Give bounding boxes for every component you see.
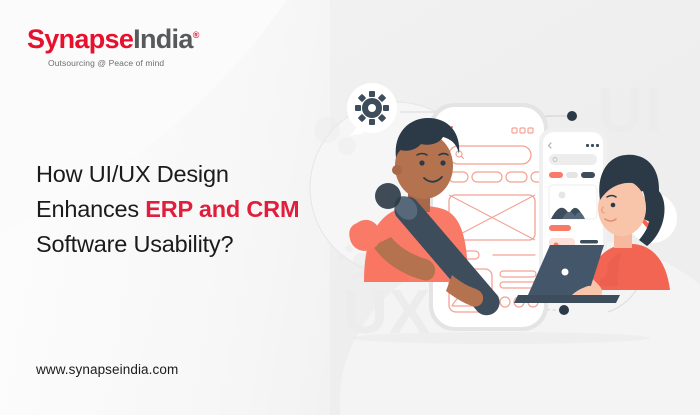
headline-line-1: How UI/UX Design (36, 157, 299, 192)
page-title: How UI/UX Design Enhances ERP and CRM So… (36, 157, 299, 262)
small-phone-menu-icon (586, 144, 599, 147)
designer-eye-left (419, 160, 424, 165)
small-phone-hero-image (549, 185, 597, 219)
hero-illustration (300, 50, 700, 350)
logo-tagline: Outsourcing @ Peace of mind (48, 58, 199, 68)
logo-text-synapse: Synapse (27, 24, 133, 54)
headline-line-2: Enhances ERP and CRM (36, 192, 299, 227)
connector-node-top (567, 111, 577, 121)
ground-shadow (350, 332, 650, 344)
laptop-base (514, 295, 620, 303)
small-phone-title-bar (549, 225, 571, 231)
connector-node-bottom (559, 305, 569, 315)
logo[interactable]: SynapseIndia® Outsourcing @ Peace of min… (27, 26, 199, 68)
promotional-banner: UI UX SynapseIndia® Outsourcing @ Peace … (0, 0, 700, 415)
laptop-camera-dot (562, 269, 569, 276)
analyst-eye (611, 203, 616, 208)
website-url[interactable]: www.synapseindia.com (36, 362, 178, 377)
small-phone-search (549, 154, 597, 165)
logo-text-india: India (133, 24, 193, 54)
designer-ear (392, 165, 402, 175)
small-phone-tabs (549, 172, 595, 178)
designer-eye-right (440, 160, 445, 165)
registered-mark-icon: ® (193, 30, 199, 40)
headline-accent: ERP and CRM (145, 196, 299, 222)
logo-wordmark: SynapseIndia® (27, 26, 199, 53)
headline-line-3: Software Usability? (36, 227, 299, 262)
headline-line-2-prefix: Enhances (36, 196, 145, 222)
